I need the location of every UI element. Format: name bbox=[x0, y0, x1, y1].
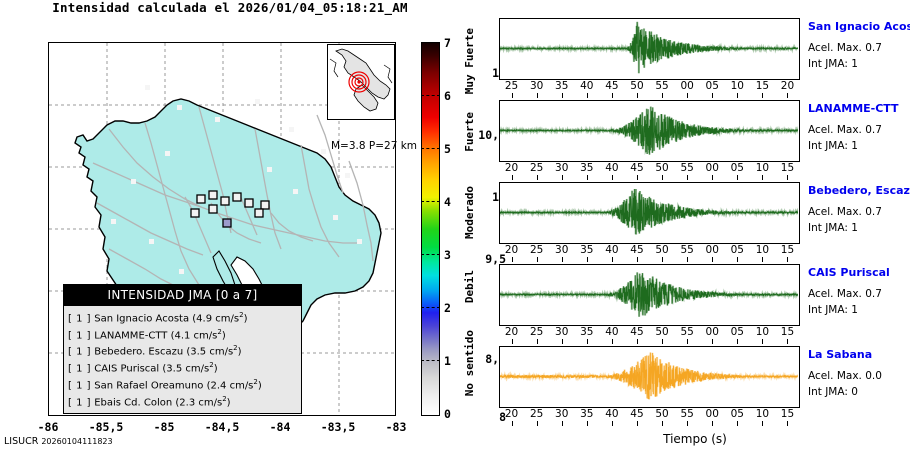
time-tick-mark bbox=[562, 421, 563, 426]
peak-acceleration-value: Acel. Max. 0.0 bbox=[808, 370, 882, 382]
legend-close: ) bbox=[238, 347, 242, 358]
time-tick-label: 05 bbox=[726, 244, 748, 256]
time-tick-mark bbox=[612, 421, 613, 426]
time-tick-mark bbox=[637, 421, 638, 426]
time-tick-mark bbox=[537, 93, 538, 98]
legend-close: ) bbox=[227, 397, 231, 408]
colorbar-tick: 3 bbox=[444, 248, 451, 262]
time-tick-mark bbox=[512, 421, 513, 426]
time-tick-mark bbox=[787, 93, 788, 98]
time-tick-label: 20 bbox=[501, 326, 523, 338]
time-tick-label: 30 bbox=[551, 326, 573, 338]
time-tick-mark bbox=[787, 339, 788, 344]
time-tick-mark bbox=[662, 421, 663, 426]
time-tick-mark bbox=[537, 257, 538, 262]
list-item: [ 1 ] Bebedero. Escazu (3.5 cm/s2) bbox=[68, 342, 301, 359]
colorbar-label: No sentido bbox=[463, 330, 476, 396]
time-tick-mark bbox=[712, 257, 713, 262]
time-tick-mark bbox=[687, 339, 688, 344]
peak-acceleration-value: Acel. Max. 0.7 bbox=[808, 124, 882, 136]
time-tick-label: 15 bbox=[776, 162, 798, 174]
colorbar-tick: 7 bbox=[444, 36, 451, 50]
map-x-tick: -84,5 bbox=[199, 420, 245, 434]
time-tick-label: 10 bbox=[751, 326, 773, 338]
time-tick-mark bbox=[662, 175, 663, 180]
time-tick-label: 40 bbox=[601, 408, 623, 420]
time-tick-mark bbox=[762, 93, 763, 98]
time-tick-label: 00 bbox=[701, 408, 723, 420]
time-tick-label: 05 bbox=[726, 326, 748, 338]
jma-intensity-value: Int JMA: 1 bbox=[808, 140, 858, 152]
waveform-trace bbox=[500, 183, 798, 242]
list-item: [ 1 ] San Ignacio Acosta (4.9 cm/s2) bbox=[68, 309, 301, 326]
legend-accel: (3.5 cm/s bbox=[162, 364, 209, 375]
station-name-label: LANAMME-CTT bbox=[808, 102, 899, 115]
time-tick-mark bbox=[637, 175, 638, 180]
time-tick-mark bbox=[737, 339, 738, 344]
time-tick-mark bbox=[787, 421, 788, 426]
time-tick-label: 35 bbox=[551, 80, 573, 92]
colorbar-label: Muy Fuerte bbox=[463, 28, 476, 94]
time-tick-label: 10 bbox=[751, 408, 773, 420]
time-tick-label: 30 bbox=[551, 244, 573, 256]
time-tick-label: 55 bbox=[676, 326, 698, 338]
time-tick-label: 25 bbox=[526, 162, 548, 174]
time-tick-mark bbox=[787, 175, 788, 180]
legend-bracket: [ 1 ] bbox=[68, 313, 91, 324]
legend-close: ) bbox=[214, 364, 218, 375]
time-axis: 202530354045505500051015 bbox=[499, 408, 800, 424]
colorbar-label: Fuerte bbox=[463, 112, 476, 152]
legend-bracket: [ 1 ] bbox=[68, 347, 91, 358]
jma-intensity-value: Int JMA: 1 bbox=[808, 222, 858, 234]
colorbar-label: Moderado bbox=[463, 186, 476, 239]
epicenter-marker bbox=[349, 72, 369, 92]
inset-graphic bbox=[328, 45, 394, 119]
time-tick-mark bbox=[512, 93, 513, 98]
time-tick-mark bbox=[562, 339, 563, 344]
time-tick-label: 50 bbox=[651, 162, 673, 174]
time-tick-label: 30 bbox=[551, 162, 573, 174]
time-tick-mark bbox=[512, 175, 513, 180]
intensity-legend: INTENSIDAD JMA [0 a 7] [ 1 ] San Ignacio… bbox=[63, 284, 302, 414]
time-tick-label: 35 bbox=[576, 408, 598, 420]
peak-acceleration-value: Acel. Max. 0.7 bbox=[808, 206, 882, 218]
time-tick-label: 00 bbox=[701, 244, 723, 256]
time-tick-mark bbox=[737, 175, 738, 180]
legend-accel: (3.5 cm/s bbox=[186, 347, 233, 358]
time-tick-label: 45 bbox=[601, 80, 623, 92]
time-tick-mark bbox=[637, 93, 638, 98]
time-tick-mark bbox=[562, 93, 563, 98]
time-tick-mark bbox=[537, 421, 538, 426]
map-x-tick: -83,5 bbox=[315, 420, 361, 434]
time-tick-label: 05 bbox=[701, 80, 723, 92]
seismogram-panel[interactable] bbox=[499, 18, 800, 80]
page-title: Intensidad calculada el 2026/01/04_05:18… bbox=[0, 0, 460, 15]
time-tick-label: 45 bbox=[626, 408, 648, 420]
list-item: [ 1 ] LANAMME-CTT (4.1 cm/s2) bbox=[68, 326, 301, 343]
legend-bracket: [ 1 ] bbox=[68, 330, 91, 341]
time-tick-label: 55 bbox=[676, 244, 698, 256]
time-axis: 202530354045505500051015 bbox=[499, 326, 800, 342]
time-tick-mark bbox=[762, 175, 763, 180]
time-tick-mark bbox=[762, 339, 763, 344]
time-tick-mark bbox=[612, 93, 613, 98]
time-tick-label: 25 bbox=[501, 80, 523, 92]
legend-accel: (2.4 cm/s bbox=[207, 380, 254, 391]
time-tick-mark bbox=[612, 257, 613, 262]
time-tick-mark bbox=[712, 421, 713, 426]
legend-station-list: [ 1 ] San Ignacio Acosta (4.9 cm/s2) [ 1… bbox=[64, 306, 301, 413]
colorbar-label: Debil bbox=[463, 270, 476, 303]
time-tick-mark bbox=[662, 257, 663, 262]
time-tick-mark bbox=[512, 339, 513, 344]
seismogram-panel[interactable] bbox=[499, 264, 800, 326]
time-tick-label: 55 bbox=[676, 162, 698, 174]
time-tick-mark bbox=[687, 93, 688, 98]
list-item: [ 1 ] CAIS Puriscal (3.5 cm/s2) bbox=[68, 359, 301, 376]
waveform-trace bbox=[500, 265, 798, 324]
time-tick-label: 00 bbox=[701, 162, 723, 174]
time-tick-label: 50 bbox=[651, 408, 673, 420]
legend-accel: (2.3 cm/s bbox=[175, 397, 222, 408]
agency-label: LISUCR bbox=[4, 436, 38, 447]
time-tick-mark bbox=[612, 339, 613, 344]
station-name-label: San Ignacio Acosta bbox=[808, 20, 910, 33]
time-tick-label: 25 bbox=[526, 408, 548, 420]
time-tick-mark bbox=[587, 175, 588, 180]
legend-accel: (4.1 cm/s bbox=[171, 330, 218, 341]
time-tick-label: 15 bbox=[776, 408, 798, 420]
time-tick-label: 35 bbox=[576, 162, 598, 174]
time-tick-label: 35 bbox=[576, 326, 598, 338]
legend-bracket: [ 1 ] bbox=[68, 397, 91, 408]
time-tick-mark bbox=[587, 93, 588, 98]
waveform-trace bbox=[500, 101, 798, 160]
time-tick-label: 15 bbox=[776, 244, 798, 256]
time-tick-mark bbox=[662, 93, 663, 98]
legend-station: Bebedero. Escazu bbox=[94, 347, 183, 358]
time-tick-label: 25 bbox=[526, 326, 548, 338]
time-tick-label: 10 bbox=[751, 162, 773, 174]
time-tick-label: 15 bbox=[751, 80, 773, 92]
jma-intensity-value: Int JMA: 1 bbox=[808, 304, 858, 316]
legend-station: Ebais Cd. Colon bbox=[94, 397, 172, 408]
inset-locator-map[interactable] bbox=[327, 44, 395, 120]
time-tick-label: 40 bbox=[576, 80, 598, 92]
map-x-tick: -83 bbox=[373, 420, 419, 434]
time-tick-mark bbox=[712, 339, 713, 344]
map-x-tick: -86 bbox=[25, 420, 71, 434]
station-name-label: La Sabana bbox=[808, 348, 872, 361]
time-tick-mark bbox=[737, 257, 738, 262]
time-tick-label: 30 bbox=[526, 80, 548, 92]
legend-station: San Ignacio Acosta bbox=[94, 313, 189, 324]
time-axis-label: Tiempo (s) bbox=[590, 432, 800, 446]
legend-station: LANAMME-CTT bbox=[94, 330, 167, 341]
magnitude-depth-label: M=3.8 P=27 km bbox=[331, 140, 417, 152]
time-tick-mark bbox=[562, 257, 563, 262]
station-name-label: CAIS Puriscal bbox=[808, 266, 890, 279]
jma-intensity-value: Int JMA: 0 bbox=[808, 386, 858, 398]
legend-title: INTENSIDAD JMA [0 a 7] bbox=[64, 285, 301, 306]
footer-credit: LISUCR 20260104111823 bbox=[4, 436, 113, 447]
time-tick-mark bbox=[587, 339, 588, 344]
list-item: [ 1 ] Ebais Cd. Colon (2.3 cm/s2) bbox=[68, 393, 301, 410]
time-tick-label: 20 bbox=[501, 162, 523, 174]
list-item: [ 1 ] San Rafael Oreamuno (2.4 cm/s2) bbox=[68, 376, 301, 393]
time-tick-label: 20 bbox=[501, 244, 523, 256]
time-axis: 253035404550550005101520 bbox=[499, 80, 800, 96]
waveform-trace bbox=[500, 19, 798, 78]
jma-intensity-value: Int JMA: 1 bbox=[808, 58, 858, 70]
colorbar-tick: 0 bbox=[444, 407, 451, 421]
time-tick-mark bbox=[662, 339, 663, 344]
time-tick-label: 40 bbox=[601, 162, 623, 174]
time-tick-label: 50 bbox=[626, 80, 648, 92]
time-tick-label: 10 bbox=[726, 80, 748, 92]
time-tick-label: 55 bbox=[676, 408, 698, 420]
map-x-tick: -85 bbox=[141, 420, 187, 434]
legend-station: CAIS Puriscal bbox=[94, 364, 159, 375]
time-tick-label: 45 bbox=[626, 162, 648, 174]
station-name-label: Bebedero, Escazu bbox=[808, 184, 910, 197]
timestamp-code: 20260104111823 bbox=[41, 437, 112, 446]
time-tick-mark bbox=[637, 257, 638, 262]
time-tick-mark bbox=[687, 175, 688, 180]
colorbar-tick: 4 bbox=[444, 195, 451, 209]
time-tick-label: 30 bbox=[551, 408, 573, 420]
time-tick-label: 05 bbox=[726, 162, 748, 174]
waveform-trace bbox=[500, 347, 798, 406]
time-tick-label: 05 bbox=[726, 408, 748, 420]
time-tick-label: 45 bbox=[626, 326, 648, 338]
time-tick-label: 50 bbox=[651, 244, 673, 256]
legend-close: ) bbox=[222, 330, 226, 341]
colorbar-tick: 1 bbox=[444, 354, 451, 368]
time-tick-mark bbox=[587, 257, 588, 262]
peak-acceleration-value: Acel. Max. 0.7 bbox=[808, 288, 882, 300]
legend-station: San Rafael Oreamuno bbox=[94, 380, 203, 391]
map-x-tick: -85,5 bbox=[83, 420, 129, 434]
time-tick-label: 40 bbox=[601, 326, 623, 338]
time-tick-mark bbox=[712, 93, 713, 98]
time-tick-mark bbox=[512, 257, 513, 262]
time-tick-mark bbox=[537, 175, 538, 180]
map-x-tick: -84 bbox=[257, 420, 303, 434]
seismogram-panel[interactable] bbox=[499, 182, 800, 244]
time-tick-label: 25 bbox=[526, 244, 548, 256]
time-tick-label: 50 bbox=[651, 326, 673, 338]
peak-acceleration-value: Acel. Max. 0.7 bbox=[808, 42, 882, 54]
time-tick-mark bbox=[687, 421, 688, 426]
time-tick-mark bbox=[587, 421, 588, 426]
time-tick-mark bbox=[787, 257, 788, 262]
colorbar-tick: 2 bbox=[444, 301, 451, 315]
time-tick-label: 00 bbox=[676, 80, 698, 92]
time-tick-mark bbox=[562, 175, 563, 180]
legend-accel: (4.9 cm/s bbox=[192, 313, 239, 324]
legend-bracket: [ 1 ] bbox=[68, 380, 91, 391]
time-tick-label: 45 bbox=[626, 244, 648, 256]
time-tick-mark bbox=[537, 339, 538, 344]
time-tick-mark bbox=[687, 257, 688, 262]
time-tick-label: 15 bbox=[776, 326, 798, 338]
time-tick-mark bbox=[712, 175, 713, 180]
time-axis: 202530354045505500051015 bbox=[499, 162, 800, 178]
time-tick-label: 40 bbox=[601, 244, 623, 256]
time-tick-mark bbox=[762, 421, 763, 426]
seismogram-panel[interactable] bbox=[499, 346, 800, 408]
time-tick-label: 55 bbox=[651, 80, 673, 92]
time-tick-mark bbox=[737, 421, 738, 426]
seismogram-panel[interactable] bbox=[499, 100, 800, 162]
colorbar-tick: 5 bbox=[444, 142, 451, 156]
colorbar-tick: 6 bbox=[444, 89, 451, 103]
time-tick-label: 20 bbox=[501, 408, 523, 420]
legend-close: ) bbox=[244, 313, 248, 324]
time-tick-label: 35 bbox=[576, 244, 598, 256]
time-tick-mark bbox=[637, 339, 638, 344]
time-tick-label: 20 bbox=[776, 80, 798, 92]
time-tick-label: 10 bbox=[751, 244, 773, 256]
time-tick-mark bbox=[762, 257, 763, 262]
time-tick-label: 00 bbox=[701, 326, 723, 338]
legend-bracket: [ 1 ] bbox=[68, 364, 91, 375]
time-axis: 202530354045505500051015 bbox=[499, 244, 800, 260]
time-tick-mark bbox=[737, 93, 738, 98]
time-tick-mark bbox=[612, 175, 613, 180]
legend-close: ) bbox=[258, 380, 262, 391]
